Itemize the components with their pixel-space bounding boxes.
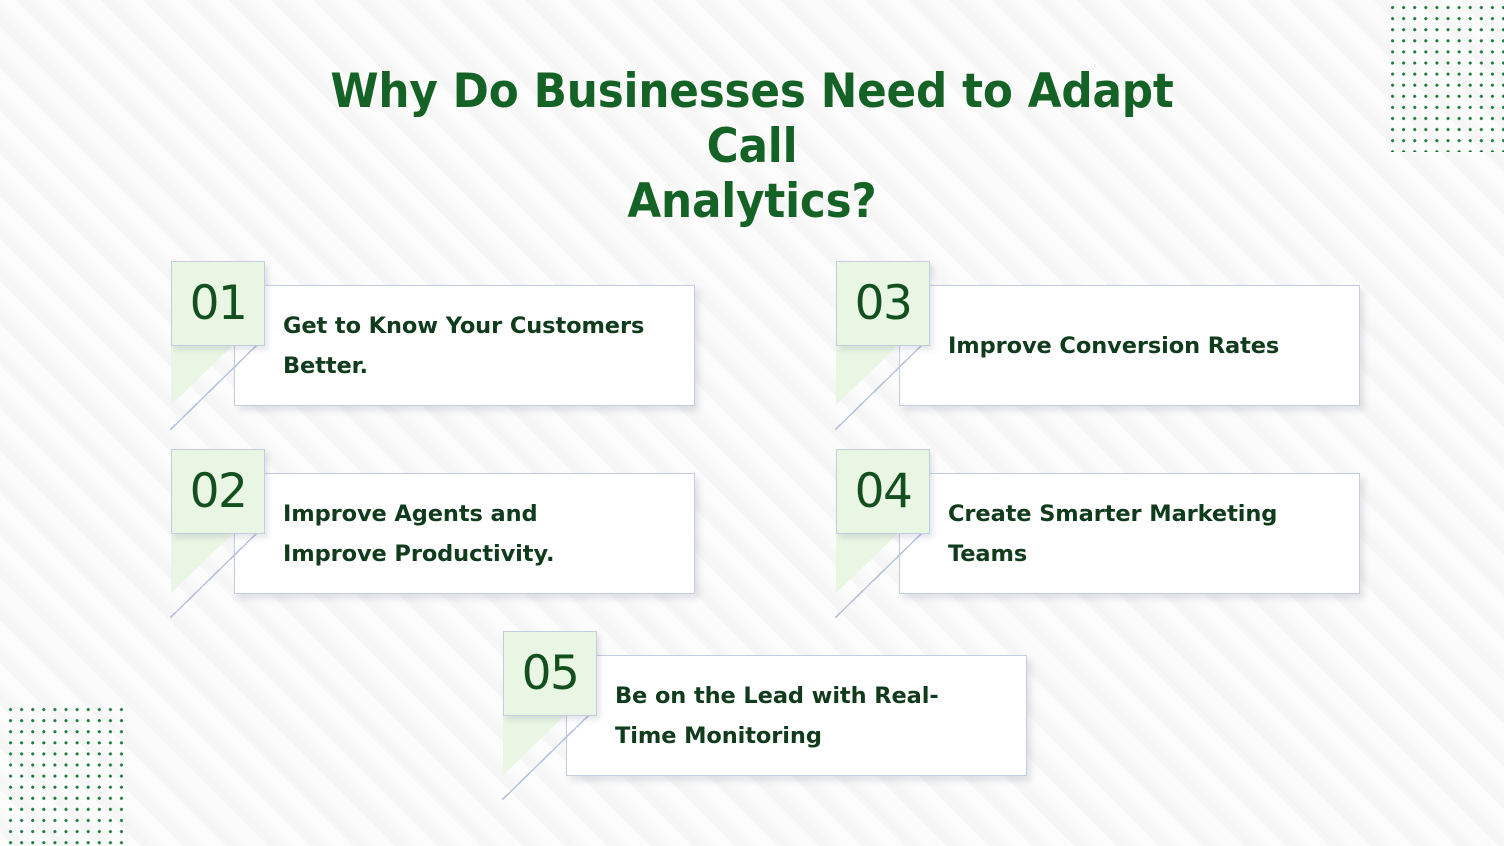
numbered-card-05[interactable]: Be on the Lead with Real-Time Monitoring…: [503, 631, 1027, 776]
card-text: Improve Agents and Improve Productivity.: [235, 494, 665, 574]
card-number: 02: [190, 466, 247, 518]
card-body: Create Smarter Marketing Teams: [899, 473, 1360, 594]
folded-corner-decoration: [171, 533, 233, 593]
card-body: Improve Agents and Improve Productivity.: [234, 473, 695, 594]
page-title-line-2: Analytics?: [627, 174, 876, 229]
numbered-card-01[interactable]: Get to Know Your Customers Better. 01: [171, 261, 695, 406]
card-body: Improve Conversion Rates: [899, 285, 1360, 406]
folded-corner-decoration: [171, 345, 233, 405]
numbered-card-03[interactable]: Improve Conversion Rates 03: [836, 261, 1360, 406]
card-number-badge: 04: [836, 449, 930, 534]
card-number: 03: [855, 278, 912, 330]
card-text: Get to Know Your Customers Better.: [235, 306, 665, 386]
folded-corner-decoration: [503, 715, 565, 775]
card-number-badge: 02: [171, 449, 265, 534]
numbered-card-04[interactable]: Create Smarter Marketing Teams 04: [836, 449, 1360, 594]
page-title-line-1: Why Do Businesses Need to Adapt Call: [330, 64, 1173, 174]
folded-corner-decoration: [836, 533, 898, 593]
card-number: 01: [190, 278, 247, 330]
card-number-badge: 05: [503, 631, 597, 716]
card-text: Be on the Lead with Real-Time Monitoring: [567, 676, 997, 756]
card-body: Be on the Lead with Real-Time Monitoring: [566, 655, 1027, 776]
numbered-card-02[interactable]: Improve Agents and Improve Productivity.…: [171, 449, 695, 594]
card-number-badge: 01: [171, 261, 265, 346]
folded-corner-decoration: [836, 345, 898, 405]
card-body: Get to Know Your Customers Better.: [234, 285, 695, 406]
page-title: Why Do Businesses Need to Adapt CallAnal…: [287, 64, 1217, 229]
card-text: Improve Conversion Rates: [900, 326, 1297, 366]
card-number-badge: 03: [836, 261, 930, 346]
card-number: 05: [522, 648, 579, 700]
card-text: Create Smarter Marketing Teams: [900, 494, 1330, 574]
card-number: 04: [855, 466, 912, 518]
